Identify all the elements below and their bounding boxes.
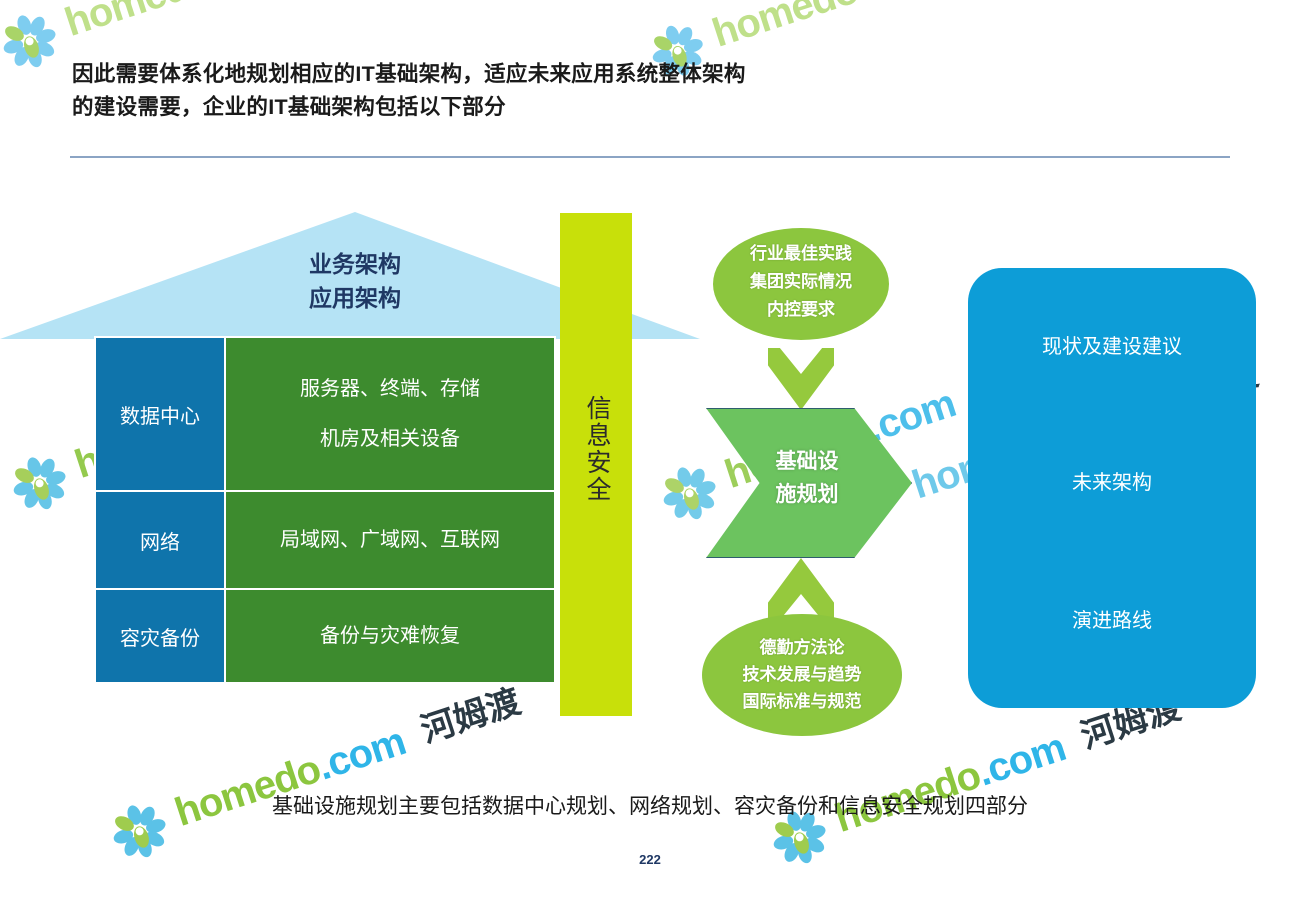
- roof-label-line2: 应用架构: [215, 281, 495, 315]
- page-number: 222: [0, 852, 1300, 867]
- chevron-line1: 基础设: [745, 445, 869, 478]
- roof-label-line1: 业务架构: [215, 247, 495, 281]
- deliverable-future-architecture: 未来架构: [968, 466, 1256, 495]
- layer-key-data-center: 数据中心: [95, 337, 225, 491]
- table-row: 容灾备份 备份与灾难恢复: [95, 589, 555, 683]
- title-divider: [70, 156, 1230, 158]
- information-security-label: 信息安全: [576, 395, 616, 503]
- layer-value-line1: 服务器、终端、存储: [226, 364, 554, 414]
- layer-value-data-center: 服务器、终端、存储 机房及相关设备: [225, 337, 555, 491]
- inputs-ellipse-text: 行业最佳实践 集团实际情况 内控要求: [713, 240, 889, 324]
- layer-key-disaster-recovery: 容灾备份: [95, 589, 225, 683]
- roof-labels: 业务架构 应用架构: [215, 247, 495, 315]
- deliverable-current-state: 现状及建设建议: [968, 330, 1256, 359]
- chevron-line2: 施规划: [745, 478, 869, 511]
- table-row: 数据中心 服务器、终端、存储 机房及相关设备: [95, 337, 555, 491]
- inputs-line1: 行业最佳实践: [713, 240, 889, 268]
- layer-value-line2: 机房及相关设备: [226, 414, 554, 464]
- table-row: 网络 局域网、广域网、互联网: [95, 491, 555, 589]
- methodology-ellipse-text: 德勤方法论 技术发展与趋势 国际标准与规范: [702, 634, 902, 715]
- layer-value-disaster-recovery: 备份与灾难恢复: [225, 589, 555, 683]
- methodology-line2: 技术发展与趋势: [702, 661, 902, 688]
- arrow-down-icon: [768, 348, 834, 410]
- methodology-line3: 国际标准与规范: [702, 688, 902, 715]
- layer-key-network: 网络: [95, 491, 225, 589]
- watermark-brand: homedo.com: [830, 722, 1080, 841]
- inputs-line3: 内控要求: [713, 296, 889, 324]
- infrastructure-layer-table: 数据中心 服务器、终端、存储 机房及相关设备 网络 局域网、广域网、互联网 容灾…: [94, 336, 556, 684]
- slide-caption: 基础设施规划主要包括数据中心规划、网络规划、容灾备份和信息安全规划四部分: [0, 790, 1300, 820]
- infrastructure-planning-label: 基础设 施规划: [745, 445, 869, 511]
- arrow-up-icon: [768, 558, 834, 620]
- methodology-line1: 德勤方法论: [702, 634, 902, 661]
- watermark-brand: homedo.com: [707, 0, 957, 56]
- inputs-line2: 集团实际情况: [713, 268, 889, 296]
- watermark-brand: homedo.com: [60, 0, 310, 45]
- flower-logo-icon: [0, 6, 65, 77]
- layer-value-network: 局域网、广域网、互联网: [225, 491, 555, 589]
- deliverable-roadmap: 演进路线: [968, 604, 1256, 633]
- page-title: 因此需要体系化地规划相应的IT基础架构，适应未来应用系统整体架构 的建设需要，企…: [72, 58, 1202, 124]
